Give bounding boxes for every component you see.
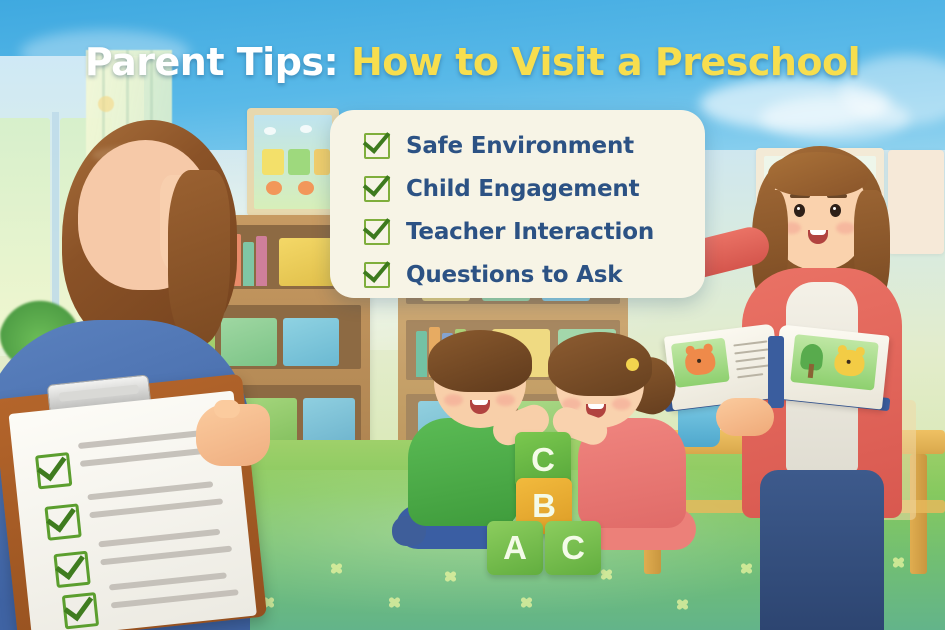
alphabet-block-c-bottom: C [545,521,601,575]
pencil-cup [678,405,720,447]
checklist-item[interactable]: Child Engagement [330,167,705,210]
clipboard-check-icon [35,452,72,489]
title-lead: Parent Tips: [85,40,338,84]
checkbox-checked-icon[interactable] [364,262,390,288]
clipboard-check-icon [44,503,81,540]
parent-thumb [214,400,240,418]
checkbox-checked-icon[interactable] [364,133,390,159]
picture-book-left-page [664,324,782,411]
checklist-item-label: Teacher Interaction [406,219,654,245]
checklist-item[interactable]: Teacher Interaction [330,210,705,253]
page-title: Parent Tips: How to Visit a Preschool [0,40,945,84]
parent-hair-front [168,170,230,345]
clipboard-check-icon [53,551,90,588]
wall-art-drawing [247,108,339,216]
title-highlight: How to Visit a Preschool [351,40,860,84]
wall-art-panel [888,150,944,254]
boy-hair [428,330,532,392]
alphabet-block-a: A [487,521,543,575]
teacher-holding-hand [716,398,774,436]
teacher-jeans [760,470,884,630]
hair-tie [626,358,639,371]
checklist-item-label: Questions to Ask [406,262,622,288]
checkbox-checked-icon[interactable] [364,219,390,245]
illustration-canvas: C B A C [0,0,945,630]
checklist-item[interactable]: Safe Environment [330,124,705,167]
checklist-card: Safe Environment Child Engagement Teache… [330,110,705,298]
checkbox-checked-icon[interactable] [364,176,390,202]
checklist-item-label: Child Engagement [406,176,639,202]
picture-book-right-page [772,324,889,409]
teacher-fringe [768,152,868,196]
book-spine [768,336,784,408]
checklist-item[interactable]: Questions to Ask [330,253,705,296]
checklist-item-label: Safe Environment [406,133,634,159]
clipboard-check-icon [62,592,99,629]
